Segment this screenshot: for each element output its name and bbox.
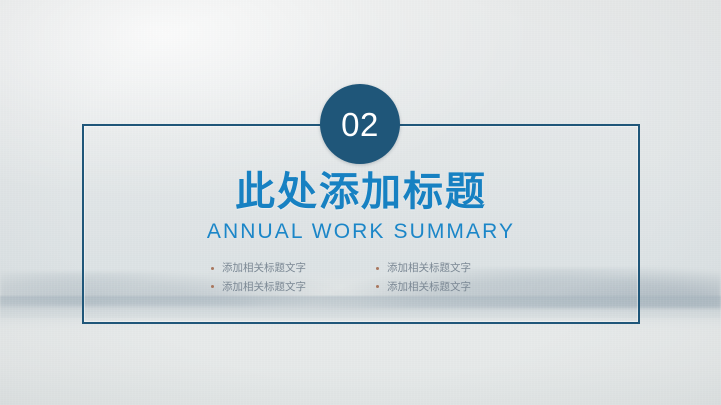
- list-item: 添加相关标题文字: [376, 281, 511, 294]
- list-item-label: 添加相关标题文字: [387, 281, 471, 294]
- list-item-label: 添加相关标题文字: [222, 262, 306, 275]
- bullet-dot-icon: [211, 267, 214, 270]
- list-item: 添加相关标题文字: [376, 262, 511, 275]
- page-title: 此处添加标题: [235, 172, 487, 212]
- page-subtitle: ANNUAL WORK SUMMARY: [207, 221, 515, 242]
- bullet-dot-icon: [211, 285, 214, 288]
- list-item: 添加相关标题文字: [211, 262, 346, 275]
- slide-content: 此处添加标题 ANNUAL WORK SUMMARY 添加相关标题文字 添加相关…: [82, 124, 640, 324]
- bullet-dot-icon: [376, 267, 379, 270]
- presentation-slide: 02 此处添加标题 ANNUAL WORK SUMMARY 添加相关标题文字 添…: [0, 0, 721, 405]
- list-item: 添加相关标题文字: [211, 281, 346, 294]
- list-item-label: 添加相关标题文字: [387, 262, 471, 275]
- bullet-dot-icon: [376, 285, 379, 288]
- list-item-label: 添加相关标题文字: [222, 281, 306, 294]
- bullet-list: 添加相关标题文字 添加相关标题文字 添加相关标题文字 添加相关标题文字: [211, 262, 511, 293]
